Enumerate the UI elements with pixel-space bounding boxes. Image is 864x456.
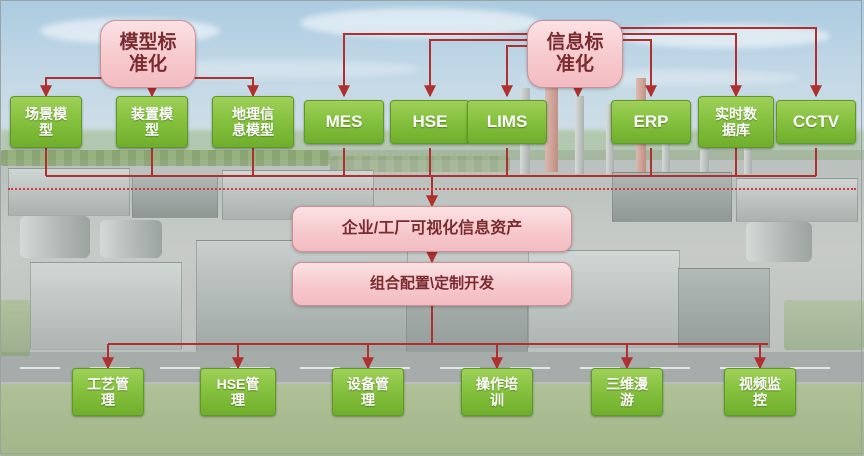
node-information-standardization[interactable]: 信息标准化 <box>527 20 623 88</box>
node-video-surveillance[interactable]: 视频监控 <box>724 368 796 416</box>
node-label: LIMS <box>485 112 530 132</box>
node-equipment-management[interactable]: 设备管理 <box>332 368 404 416</box>
node-label: 地理信息模型 <box>230 106 276 138</box>
node-lims[interactable]: LIMS <box>467 100 547 144</box>
node-3d-roaming[interactable]: 三维漫游 <box>591 368 663 416</box>
node-mes[interactable]: MES <box>304 100 384 144</box>
node-label: 工艺管理 <box>85 376 131 408</box>
node-label: MES <box>324 112 365 132</box>
node-label: 装置模型 <box>129 106 175 138</box>
node-label: HSE管理 <box>215 376 262 408</box>
node-label: HSE <box>411 112 450 132</box>
node-label: CCTV <box>791 112 841 132</box>
node-device-model[interactable]: 装置模型 <box>116 96 188 148</box>
node-label: 信息标准化 <box>544 32 605 76</box>
node-operation-training[interactable]: 操作培训 <box>461 368 533 416</box>
node-process-management[interactable]: 工艺管理 <box>72 368 144 416</box>
node-label: 操作培训 <box>474 376 520 408</box>
node-hse-management[interactable]: HSE管理 <box>200 368 276 416</box>
node-label: 三维漫游 <box>604 376 650 408</box>
node-label: 实时数据库 <box>713 106 759 138</box>
node-cctv[interactable]: CCTV <box>776 100 856 144</box>
node-realtime-database[interactable]: 实时数据库 <box>698 96 774 148</box>
node-hse[interactable]: HSE <box>390 100 470 144</box>
node-label: 组合配置\定制开发 <box>368 275 496 292</box>
node-scene-model[interactable]: 场景模型 <box>10 96 82 148</box>
node-config-development[interactable]: 组合配置\定制开发 <box>292 262 572 306</box>
node-label: 设备管理 <box>345 376 391 408</box>
diagram-canvas: 模型标准化 信息标准化 场景模型 装置模型 地理信息模型 MES HSE LIM… <box>0 0 864 456</box>
node-label: ERP <box>632 112 671 132</box>
node-model-standardization[interactable]: 模型标准化 <box>100 20 196 88</box>
node-visual-info-asset[interactable]: 企业/工厂可视化信息资产 <box>292 206 572 252</box>
node-label: 场景模型 <box>23 106 69 138</box>
node-erp[interactable]: ERP <box>611 100 691 144</box>
node-label: 模型标准化 <box>117 32 178 76</box>
node-label: 企业/工厂可视化信息资产 <box>340 220 524 238</box>
separator-dotted-line <box>8 188 856 190</box>
node-label: 视频监控 <box>737 376 783 408</box>
node-geo-info-model[interactable]: 地理信息模型 <box>212 96 294 148</box>
